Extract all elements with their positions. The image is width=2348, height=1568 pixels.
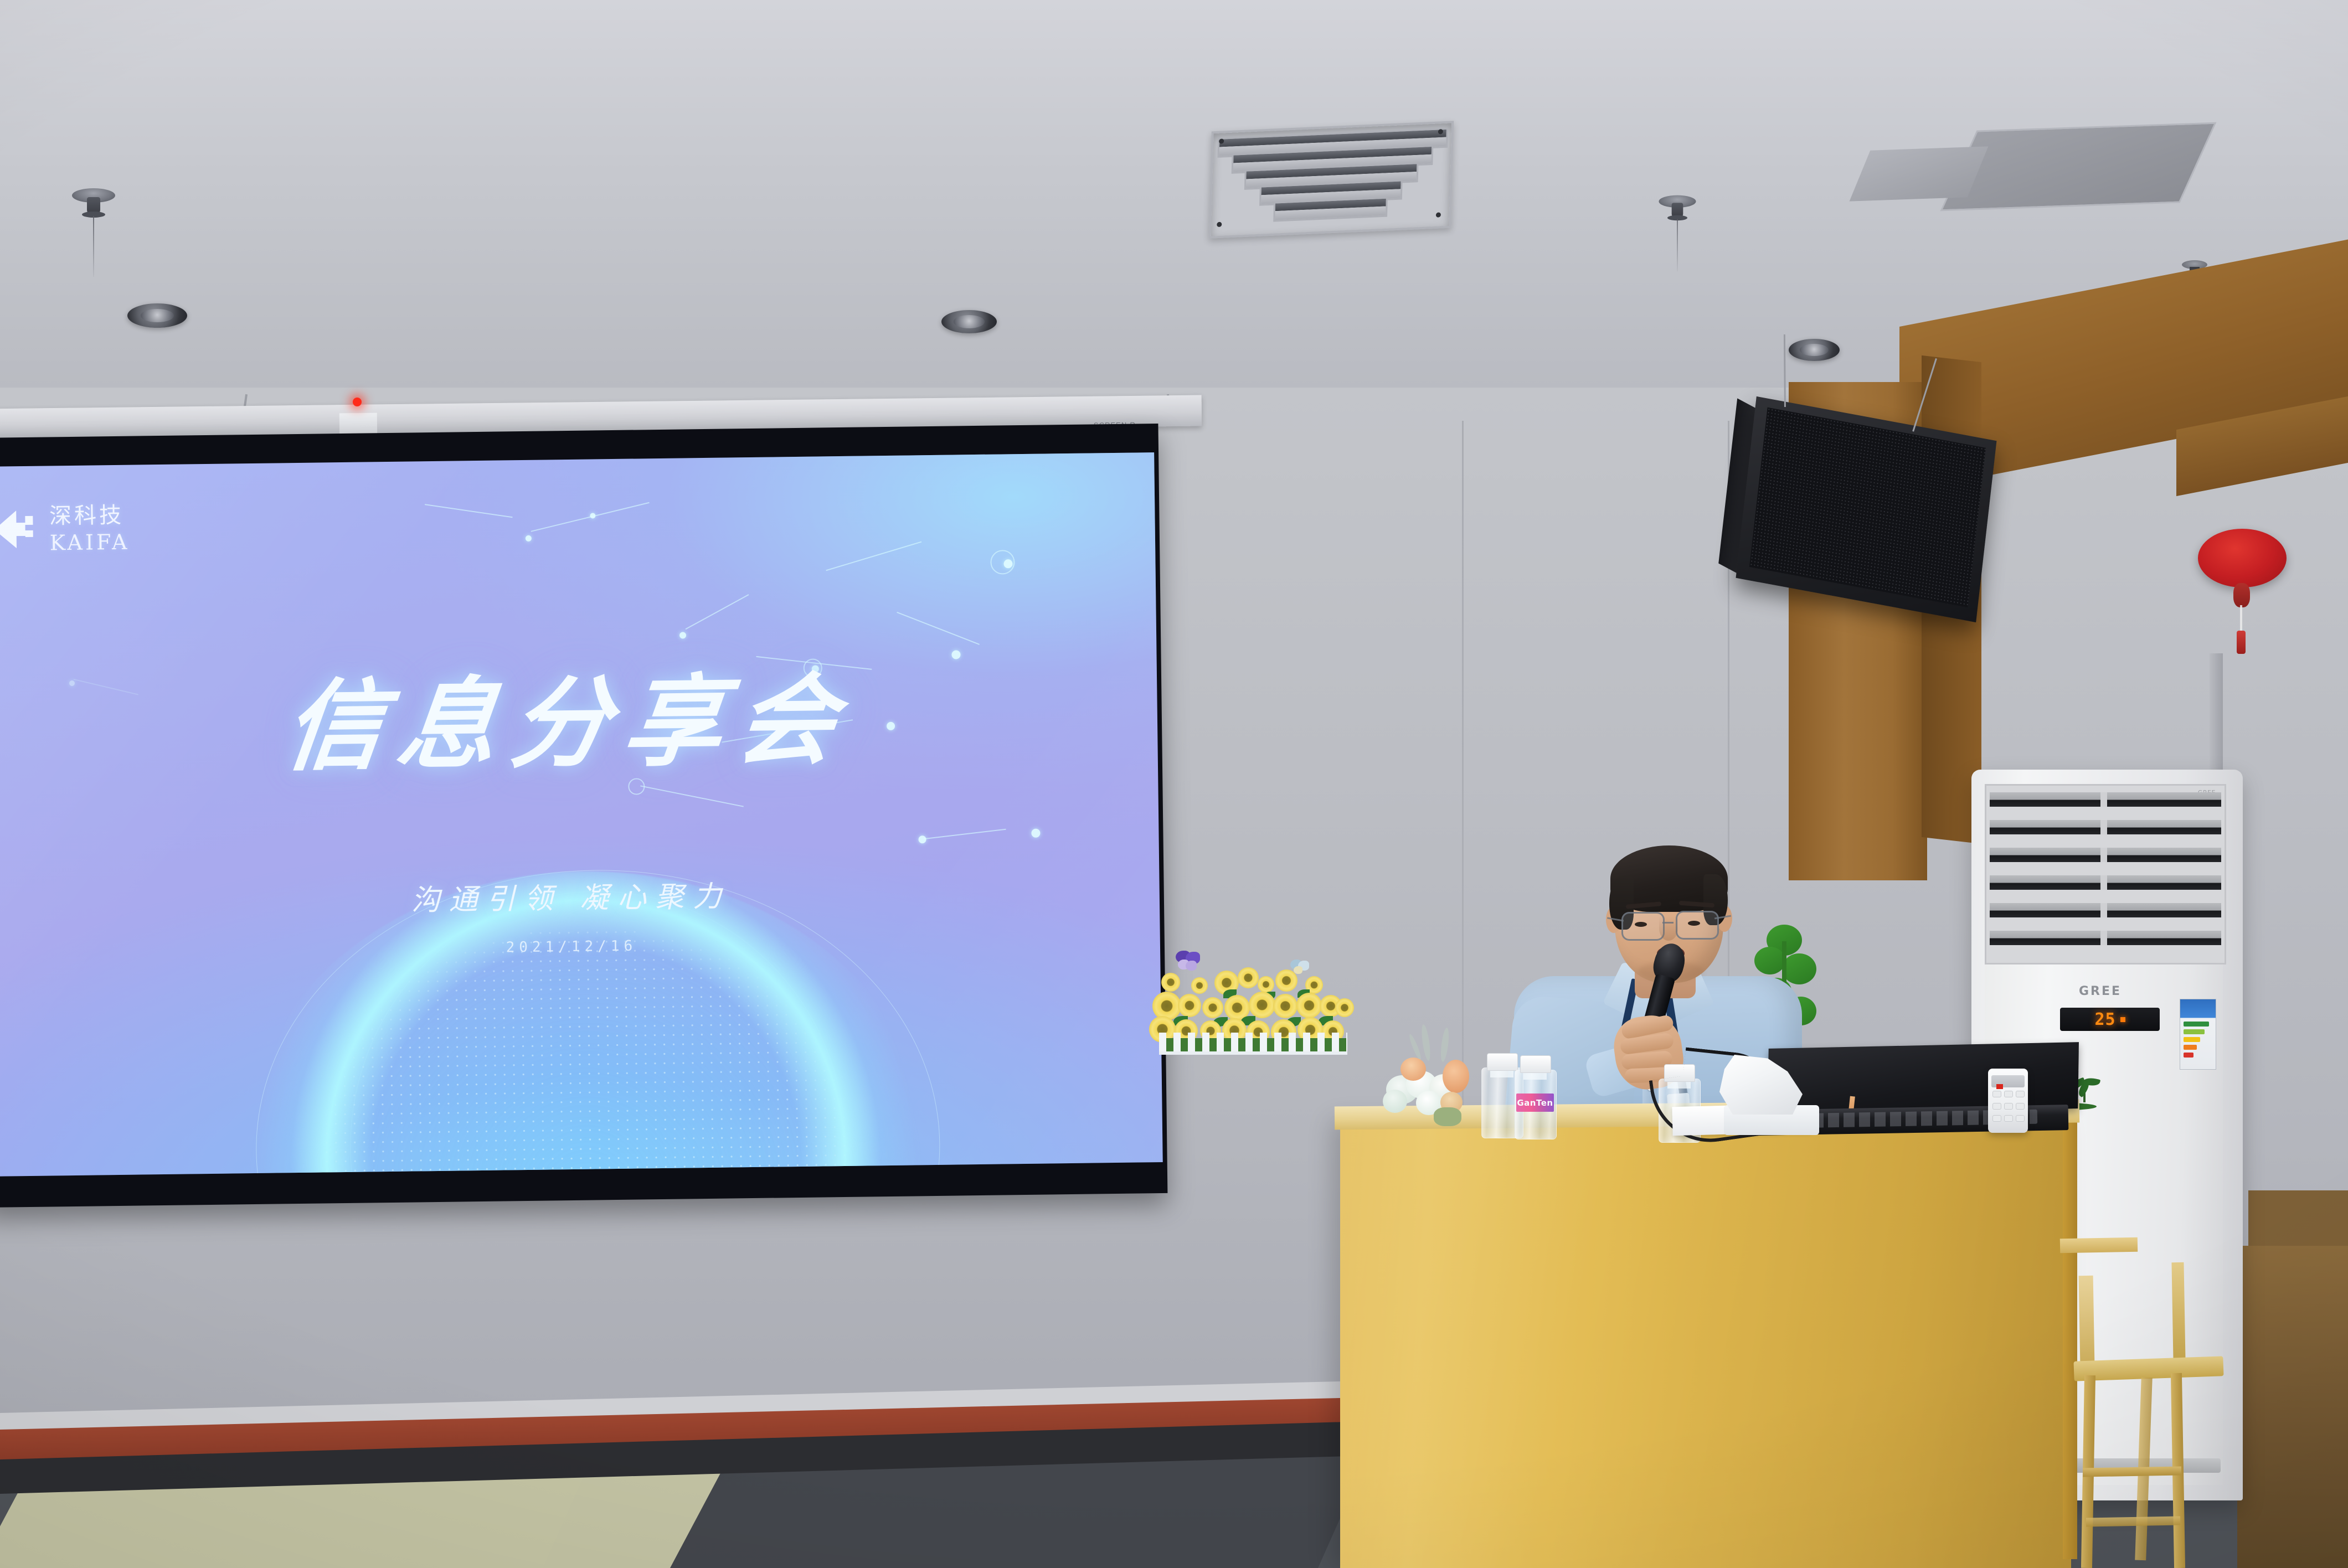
flower-arrangement xyxy=(1382,1024,1492,1129)
remote-display xyxy=(1991,1075,2025,1087)
side-table-edge xyxy=(2060,1237,2138,1253)
wall-panel-right-lower xyxy=(2237,1246,2348,1568)
stool-back-left xyxy=(2079,1276,2095,1364)
water-bottle[interactable]: GanTen xyxy=(1515,1055,1556,1138)
bottle-label: GanTen xyxy=(1517,1098,1553,1108)
remote-control[interactable] xyxy=(1988,1069,2028,1133)
slide-subtitle: 沟通引领 凝心聚力 xyxy=(0,868,1160,924)
slide-title: 信息分享会 xyxy=(0,637,1163,793)
sprinkler-head-icon xyxy=(1659,195,1696,227)
remote-button[interactable] xyxy=(1992,1103,2001,1110)
remote-indicator-icon xyxy=(1996,1084,2003,1089)
ceiling-access-panel xyxy=(1940,122,2216,212)
nose xyxy=(1659,916,1678,941)
butterfly-icon xyxy=(1176,951,1201,973)
remote-button[interactable] xyxy=(1992,1091,2001,1097)
hvac-vent-icon xyxy=(1209,121,1454,239)
stool-rung xyxy=(2086,1517,2180,1527)
remote-button[interactable] xyxy=(2016,1091,2025,1097)
remote-button[interactable] xyxy=(1992,1115,2001,1122)
tissue-sheet xyxy=(1719,1055,1803,1115)
sunflower-wall-decal xyxy=(1149,911,1354,1055)
wooden-stool[interactable] xyxy=(2074,1285,2240,1568)
power-led-icon xyxy=(353,398,362,406)
conference-room-photo: GREE GREE 25 xyxy=(0,0,2348,1568)
remote-button[interactable] xyxy=(2004,1115,2013,1122)
energy-label xyxy=(2180,999,2216,1070)
ac-status-dot-icon xyxy=(2120,1017,2125,1022)
ac-temperature-readout: 25 xyxy=(2094,1010,2115,1029)
eye-left xyxy=(1635,922,1647,927)
stool-rung xyxy=(2083,1466,2181,1477)
logo-company-cn: 深科技 xyxy=(49,504,130,527)
ceiling-downlight-icon xyxy=(127,303,187,328)
slide-canvas: 深科技 KAIFA 信息分享会 沟通引领 凝心聚力 2021/12/16 xyxy=(0,452,1163,1177)
slide-logo: 深科技 KAIFA xyxy=(0,504,130,554)
remote-button[interactable] xyxy=(2004,1091,2013,1097)
remote-button[interactable] xyxy=(2004,1103,2013,1110)
ac-intake-grill: GREE xyxy=(1985,784,2226,964)
stool-back-right xyxy=(2171,1262,2185,1361)
paper-lantern-icon xyxy=(2190,518,2295,656)
remote-button[interactable] xyxy=(2016,1103,2025,1110)
projection-screen[interactable]: 深科技 KAIFA 信息分享会 沟通引领 凝心聚力 2021/12/16 xyxy=(0,424,1167,1208)
remote-button[interactable] xyxy=(2016,1115,2025,1122)
podium-sheen xyxy=(1340,1120,2071,1568)
kaifa-logo-icon xyxy=(0,508,41,551)
eye-right xyxy=(1688,921,1700,926)
sprinkler-head-icon xyxy=(72,188,115,225)
ac-brand-label: GREE xyxy=(2079,984,2122,998)
ceiling-access-panel xyxy=(1850,146,1989,201)
ceiling-downlight-icon xyxy=(1789,339,1840,361)
ceiling-downlight-icon xyxy=(941,310,997,333)
tissue-box[interactable] xyxy=(1719,1055,1825,1135)
logo-company-en: KAIFA xyxy=(49,531,130,553)
ac-display-panel[interactable]: 25 xyxy=(2060,1008,2160,1031)
room-shell: GREE GREE 25 xyxy=(0,0,2348,1568)
